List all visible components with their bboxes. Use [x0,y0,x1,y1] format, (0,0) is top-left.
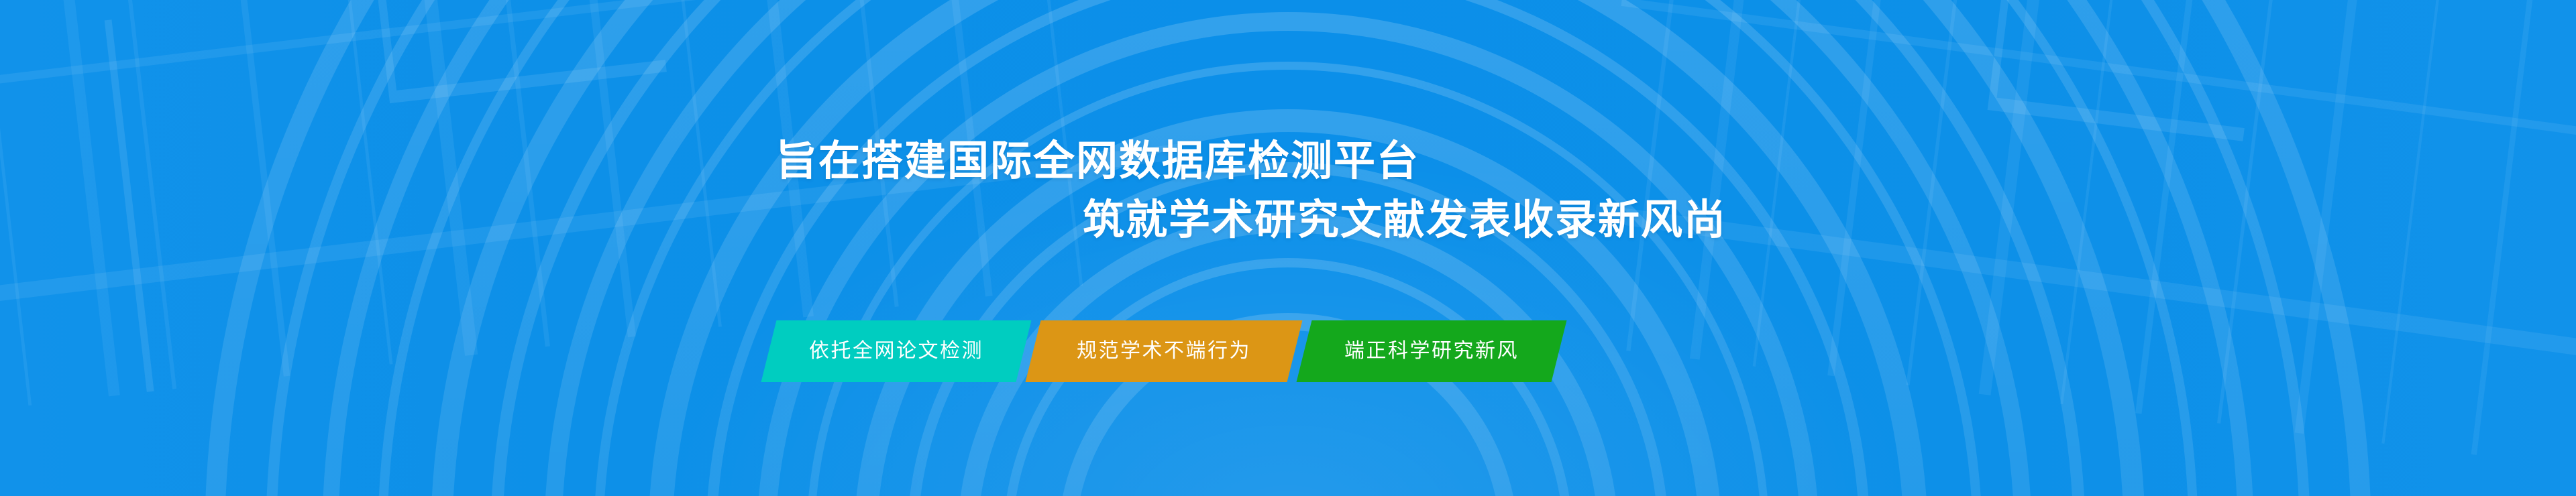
feature-tag-strip: 依托全网论文检测 规范学术不端行为 端正科学研究新风 [769,320,1559,382]
feature-tag-3[interactable]: 端正科学研究新风 [1297,320,1567,382]
feature-tag-1-label: 依托全网论文检测 [809,341,983,361]
headline-line-2: 筑就学术研究文献发表收录新风尚 [1083,200,1727,241]
headline-block: 旨在搭建国际全网数据库检测平台 筑就学术研究文献发表收录新风尚 [0,131,2576,259]
feature-tag-3-label: 端正科学研究新风 [1344,341,1519,361]
feature-tag-2[interactable]: 规范学术不端行为 [1026,320,1303,382]
promo-banner: 旨在搭建国际全网数据库检测平台 筑就学术研究文献发表收录新风尚 依托全网论文检测… [0,0,2576,496]
feature-tag-2-label: 规范学术不端行为 [1077,341,1251,361]
headline-line-1: 旨在搭建国际全网数据库检测平台 [775,141,1419,182]
feature-tag-1[interactable]: 依托全网论文检测 [761,320,1032,382]
